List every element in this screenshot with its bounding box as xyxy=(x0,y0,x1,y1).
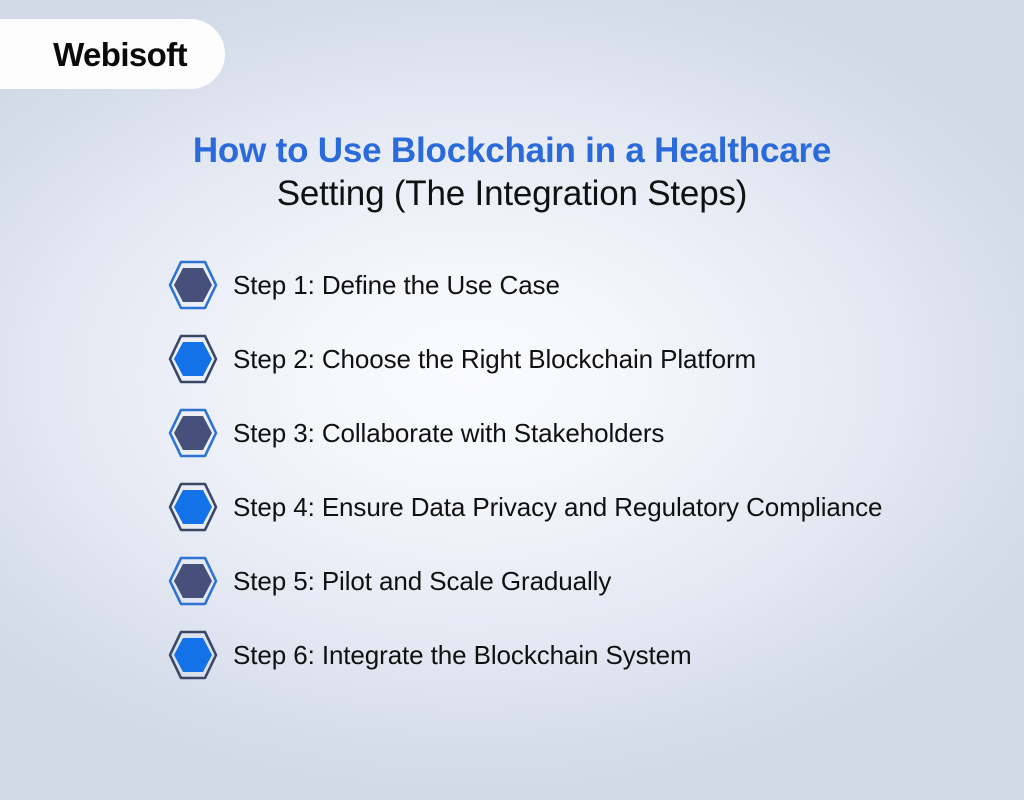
hexagon-icon xyxy=(168,629,218,681)
step-label: Step 1: Define the Use Case xyxy=(233,271,560,300)
brand-logo-badge: Webisoft xyxy=(0,19,225,89)
hexagon-icon xyxy=(168,407,218,459)
step-row: Step 2: Choose the Right Blockchain Plat… xyxy=(168,332,1018,386)
steps-list: Step 1: Define the Use CaseStep 2: Choos… xyxy=(168,258,1018,702)
step-label: Step 3: Collaborate with Stakeholders xyxy=(233,419,664,448)
brand-logo-text: Webisoft xyxy=(53,38,187,71)
step-row: Step 4: Ensure Data Privacy and Regulato… xyxy=(168,480,1018,534)
step-label: Step 4: Ensure Data Privacy and Regulato… xyxy=(233,493,882,522)
step-label: Step 2: Choose the Right Blockchain Plat… xyxy=(233,345,756,374)
step-row: Step 1: Define the Use Case xyxy=(168,258,1018,312)
hexagon-icon xyxy=(168,555,218,607)
page-title: How to Use Blockchain in a Healthcare Se… xyxy=(0,131,1024,213)
page-title-line-1: How to Use Blockchain in a Healthcare xyxy=(0,131,1024,170)
hexagon-icon xyxy=(168,481,218,533)
slide-canvas: Webisoft How to Use Blockchain in a Heal… xyxy=(0,0,1024,800)
hexagon-icon xyxy=(168,333,218,385)
page-title-line-2: Setting (The Integration Steps) xyxy=(0,174,1024,213)
step-row: Step 5: Pilot and Scale Gradually xyxy=(168,554,1018,608)
step-row: Step 6: Integrate the Blockchain System xyxy=(168,628,1018,682)
step-row: Step 3: Collaborate with Stakeholders xyxy=(168,406,1018,460)
step-label: Step 6: Integrate the Blockchain System xyxy=(233,641,692,670)
hexagon-icon xyxy=(168,259,218,311)
step-label: Step 5: Pilot and Scale Gradually xyxy=(233,567,611,596)
